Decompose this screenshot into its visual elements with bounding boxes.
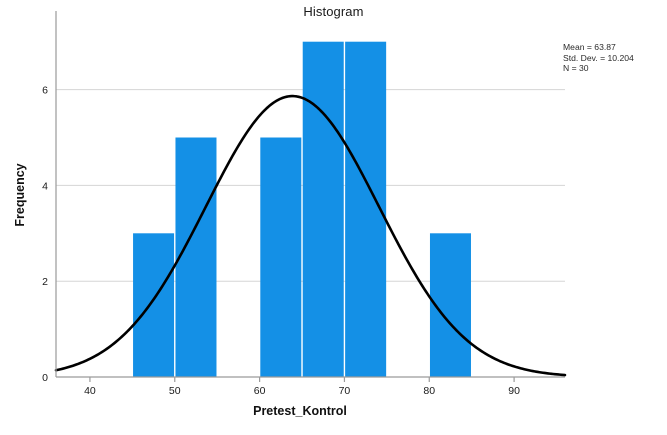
statistics-annotation: Mean = 63.87 Std. Dev. = 10.204 N = 30 [563,42,634,74]
stat-mean: Mean = 63.87 [563,42,634,53]
x-axis-label: Pretest_Kontrol [0,404,600,418]
histogram-bar [260,138,301,378]
histogram-bar [303,42,344,377]
y-axis-tick-labels: 0246 [42,85,48,384]
x-tick-label: 70 [339,385,351,397]
stat-std-dev: Std. Dev. = 10.204 [563,53,634,64]
x-tick-label: 90 [508,385,520,397]
stat-n: N = 30 [563,63,634,74]
x-tick-label: 60 [254,385,266,397]
y-tick-label: 0 [42,372,48,384]
y-tick-label: 6 [42,85,48,97]
x-tick-label: 40 [84,385,96,397]
histogram-bar [175,138,216,378]
x-tick-label: 50 [169,385,181,397]
histogram-chart: Histogram 405060708090 0246 Frequency Pr… [0,0,667,435]
y-tick-label: 2 [42,276,48,288]
histogram-bars [133,42,471,377]
x-tick-label: 80 [423,385,435,397]
histogram-bar [133,233,174,377]
x-axis-tick-labels: 405060708090 [84,385,520,397]
y-tick-label: 4 [42,180,48,192]
y-axis-label: Frequency [13,140,27,250]
